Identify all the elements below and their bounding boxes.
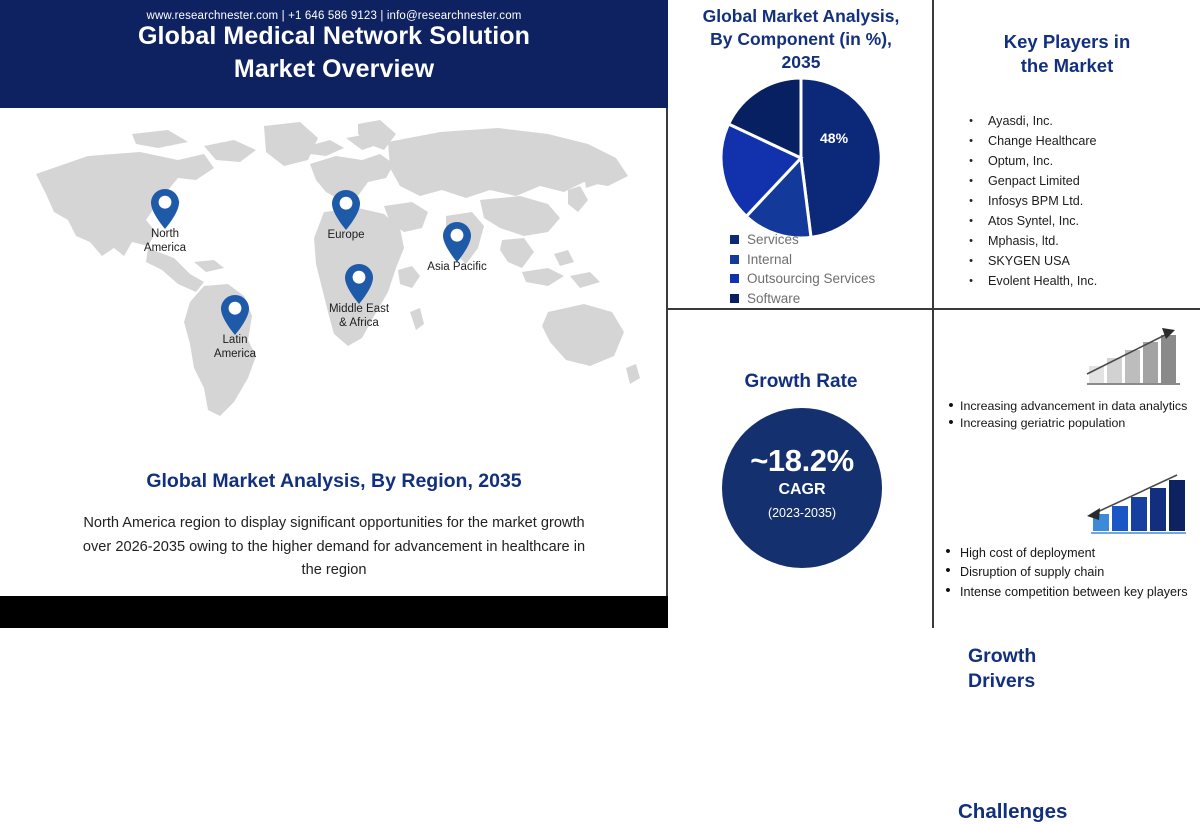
location-pin-icon [150, 188, 180, 230]
list-item: • Increasing advancement in data analyti… [942, 398, 1192, 414]
key-players-panel: Key Players in the Market • Ayasdi, Inc.… [934, 0, 1200, 310]
map-pin-label-line1: Asia Pacific [427, 261, 486, 275]
list-item: • Ayasdi, Inc. [954, 112, 1194, 132]
bullet-icon: • [954, 232, 988, 251]
bullet-icon: • [954, 272, 988, 291]
key-player-name: Ayasdi, Inc. [988, 112, 1053, 131]
pie-chart-svg [709, 78, 893, 238]
legend-swatch-icon [730, 294, 739, 303]
growth-rate-period: (2023-2035) [722, 506, 882, 520]
legend-label: Internal [747, 252, 792, 267]
growth-drivers-chart-svg [1085, 326, 1183, 388]
list-item: • Evolent Health, Inc. [954, 272, 1194, 292]
left-column: Global Medical Network Solution Market O… [0, 0, 668, 628]
challenges-list: • High cost of deployment • Disruption o… [936, 544, 1194, 602]
component-pie-chart [709, 78, 893, 238]
challenges-bar-chart [1083, 472, 1187, 541]
map-pin-label-line2: America [144, 242, 186, 256]
key-player-name: Optum, Inc. [988, 152, 1053, 171]
key-players-title-line2: the Market [942, 54, 1192, 78]
growth-driver-text: Increasing geriatric population [960, 415, 1125, 431]
bullet-icon: • [954, 172, 988, 191]
bullet-icon: • [954, 192, 988, 211]
bullet-icon: • [954, 112, 988, 131]
legend-item-internal[interactable]: Internal [730, 250, 875, 270]
footer-bar [0, 596, 668, 628]
map-pin-middle-east-africa[interactable]: Middle East & Africa [344, 263, 374, 305]
legend-label: Outsourcing Services [747, 271, 875, 286]
infographic-page: Global Medical Network Solution Market O… [0, 0, 1200, 628]
key-players-list: • Ayasdi, Inc. • Change Healthcare • Opt… [954, 112, 1194, 292]
pie-data-label-services: 48% [820, 130, 848, 146]
component-analysis-panel: Global Market Analysis, By Component (in… [668, 0, 934, 310]
map-pin-label: North America [144, 228, 186, 255]
map-pin-label-line1: North [144, 228, 186, 242]
growth-drivers-title-line2: Drivers [968, 669, 1098, 694]
legend-swatch-icon [730, 274, 739, 283]
legend-swatch-icon [730, 255, 739, 264]
component-panel-title-line1: Global Market Analysis, [674, 5, 928, 28]
map-pin-label-line2: & Africa [329, 317, 389, 331]
map-pin-label: Latin America [214, 334, 256, 361]
legend-item-software[interactable]: Software [730, 289, 875, 309]
key-player-name: Change Healthcare [988, 132, 1097, 151]
list-item: • Infosys BPM Ltd. [954, 192, 1194, 212]
key-player-name: Mphasis, ltd. [988, 232, 1059, 251]
list-item: • Increasing geriatric population [942, 415, 1192, 431]
region-section-title: Global Market Analysis, By Region, 2035 [0, 470, 668, 493]
map-pin-label-line2: America [214, 348, 256, 362]
map-pin-label: Middle East & Africa [329, 303, 389, 330]
list-item: • Change Healthcare [954, 132, 1194, 152]
legend-swatch-icon [730, 235, 739, 244]
growth-drivers-list: • Increasing advancement in data analyti… [942, 398, 1192, 433]
map-pin-latin-america[interactable]: Latin America [220, 294, 250, 336]
key-player-name: Atos Syntel, Inc. [988, 212, 1079, 231]
map-pin-asia-pacific[interactable]: Asia Pacific [442, 221, 472, 263]
component-panel-title-line3: 2035 [674, 51, 928, 74]
bullet-icon: • [954, 252, 988, 271]
pie-slice-services [801, 78, 881, 237]
challenges-title: Challenges [958, 800, 1108, 824]
growth-rate-value: ~18.2% [722, 443, 882, 479]
challenge-text: High cost of deployment [960, 544, 1095, 562]
bullet-icon: • [936, 563, 960, 578]
challenge-text: Intense competition between key players [960, 583, 1188, 601]
map-pin-north-america[interactable]: North America [150, 188, 180, 230]
challenge-text: Disruption of supply chain [960, 563, 1104, 581]
growth-drivers-bar-chart [1085, 326, 1183, 393]
region-section-note: North America region to display signific… [74, 512, 594, 583]
list-item: • High cost of deployment [936, 544, 1194, 562]
bullet-icon: • [954, 132, 988, 151]
legend-label: Services [747, 232, 799, 247]
growth-drivers-title: Growth Drivers [968, 644, 1098, 694]
list-item: • Mphasis, ltd. [954, 232, 1194, 252]
growth-rate-title: Growth Rate [674, 370, 928, 395]
world-map-svg [28, 116, 640, 446]
world-map: North America Europe Asi [0, 108, 668, 458]
key-player-name: Evolent Health, Inc. [988, 272, 1097, 291]
bullet-icon: • [954, 152, 988, 171]
map-pin-label: Asia Pacific [427, 261, 486, 275]
map-pin-label-line1: Middle East [329, 303, 389, 317]
location-pin-icon [220, 294, 250, 336]
key-players-title-line1: Key Players in [942, 30, 1192, 54]
bullet-icon: • [936, 583, 960, 598]
legend-label: Software [747, 291, 800, 306]
list-item: • Optum, Inc. [954, 152, 1194, 172]
list-item: • SKYGEN USA [954, 252, 1194, 272]
location-pin-icon [442, 221, 472, 263]
growth-rate-metric: CAGR [722, 481, 882, 499]
component-panel-title-line2: By Component (in %), [674, 28, 928, 51]
list-item: • Intense competition between key player… [936, 583, 1194, 601]
bullet-icon: • [954, 212, 988, 231]
footer-contact-text: www.researchnester.com | +1 646 586 9123… [0, 0, 668, 32]
key-players-title: Key Players in the Market [942, 30, 1192, 78]
map-pin-label: Europe [327, 229, 364, 243]
bullet-icon: • [936, 544, 960, 559]
legend-item-outsourcing-services[interactable]: Outsourcing Services [730, 269, 875, 289]
map-pin-label-line1: Latin [214, 334, 256, 348]
component-panel-title: Global Market Analysis, By Component (in… [674, 5, 928, 73]
growth-driver-text: Increasing advancement in data analytics [960, 398, 1187, 414]
legend-item-services[interactable]: Services [730, 230, 875, 250]
bullet-icon: • [942, 415, 960, 430]
key-player-name: SKYGEN USA [988, 252, 1070, 271]
bullet-icon: • [942, 398, 960, 413]
location-pin-icon [331, 189, 361, 231]
key-player-name: Genpact Limited [988, 172, 1080, 191]
list-item: • Atos Syntel, Inc. [954, 212, 1194, 232]
list-item: • Disruption of supply chain [936, 563, 1194, 581]
map-pin-label-line1: Europe [327, 229, 364, 243]
pie-legend: Services Internal Outsourcing Services S… [730, 230, 875, 308]
map-pin-europe[interactable]: Europe [331, 189, 361, 231]
page-title-line2: Market Overview [0, 53, 668, 86]
challenges-chart-svg [1083, 472, 1187, 536]
list-item: • Genpact Limited [954, 172, 1194, 192]
key-player-name: Infosys BPM Ltd. [988, 192, 1083, 211]
growth-drivers-title-line1: Growth [968, 644, 1098, 669]
location-pin-icon [344, 263, 374, 305]
